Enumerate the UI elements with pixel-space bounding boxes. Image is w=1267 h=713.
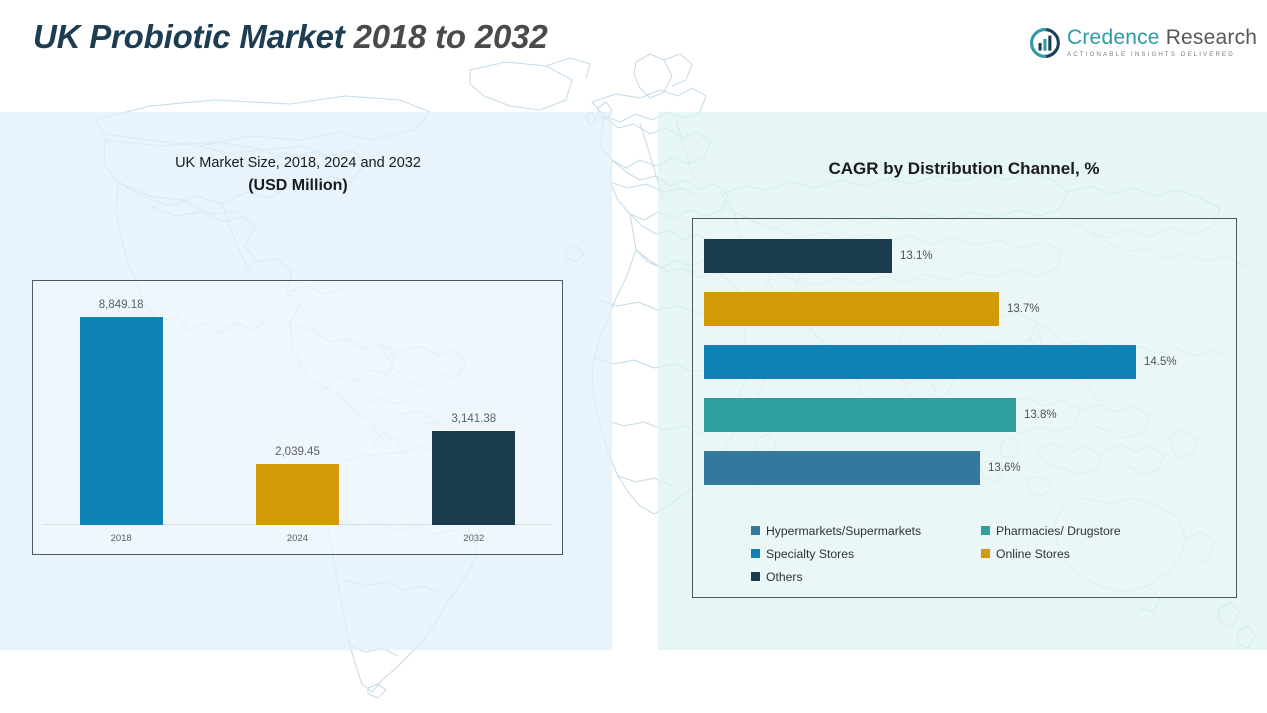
bar-value-label: 13.7% bbox=[1007, 303, 1040, 315]
column-bar bbox=[432, 431, 515, 525]
column-category-label: 2018 bbox=[33, 533, 209, 544]
column-group-2018: 2,039.45 bbox=[209, 299, 385, 525]
legend-label: Pharmacies/ Drugstore bbox=[996, 524, 1121, 538]
infographic-page: UK Probiotic Market 2018 to 2032 Credenc… bbox=[0, 0, 1267, 713]
left-chart-title-line2: (USD Million) bbox=[33, 174, 563, 197]
page-title-secondary: 2018 to 2032 bbox=[354, 18, 548, 55]
bar-fill bbox=[704, 398, 1016, 432]
logo-word-research: Research bbox=[1160, 26, 1258, 49]
bar-value-label: 13.8% bbox=[1024, 409, 1057, 421]
page-title-primary: UK Probiotic Market bbox=[33, 18, 354, 55]
legend-swatch-icon bbox=[751, 549, 760, 558]
bar-fill bbox=[704, 451, 980, 485]
column-category-label: 2024 bbox=[209, 533, 385, 544]
logo-word-credence: Credence bbox=[1067, 26, 1160, 49]
bar-row: 13.6% bbox=[704, 451, 1021, 485]
bar-value-label: 13.6% bbox=[988, 462, 1021, 474]
legend-item-specialty-stores[interactable]: Specialty Stores bbox=[751, 542, 981, 565]
column-value-label: 3,141.38 bbox=[451, 413, 496, 425]
column-bar bbox=[80, 317, 163, 525]
right-chart-title: CAGR by Distribution Channel, % bbox=[692, 158, 1236, 180]
column-group-2032: 8,849.18 bbox=[33, 299, 209, 525]
logo-text: Credence Research Actionable Insights De… bbox=[1067, 27, 1257, 58]
legend-item-pharmacies-drugstore[interactable]: Pharmacies/ Drugstore bbox=[981, 519, 1211, 542]
left-chart-title: UK Market Size, 2018, 2024 and 2032 (USD… bbox=[33, 152, 563, 197]
credence-research-logo: Credence Research Actionable Insights De… bbox=[1030, 27, 1257, 58]
column-chart-plot-area: 2,039.45 3,141.38 8,849.18 2018 2024 203… bbox=[33, 281, 562, 554]
logo-tagline: Actionable Insights Delivered bbox=[1067, 51, 1257, 58]
column-bar bbox=[256, 464, 339, 525]
market-size-column-chart: 2,039.45 3,141.38 8,849.18 2018 2024 203… bbox=[32, 280, 563, 555]
page-title: UK Probiotic Market 2018 to 2032 bbox=[33, 18, 547, 56]
bar-row: 14.5% bbox=[704, 345, 1177, 379]
legend-item-hypermarkets-supermarkets[interactable]: Hypermarkets/Supermarkets bbox=[751, 519, 981, 542]
bar-fill bbox=[704, 239, 892, 273]
legend-swatch-icon bbox=[751, 526, 760, 535]
bar-chart-circle-icon bbox=[1030, 28, 1060, 58]
legend-label: Specialty Stores bbox=[766, 547, 854, 561]
legend-label: Hypermarkets/Supermarkets bbox=[766, 524, 921, 538]
legend-item-online-stores[interactable]: Online Stores bbox=[981, 542, 1211, 565]
column-value-label: 2,039.45 bbox=[275, 446, 320, 458]
bar-value-label: 14.5% bbox=[1144, 356, 1177, 368]
bar-chart-legend: Hypermarkets/Supermarkets Pharmacies/ Dr… bbox=[751, 519, 1211, 588]
cagr-bar-chart: 13.1% 13.7% 14.5% 13.8% 13.6% Hype bbox=[692, 218, 1237, 598]
logo-wordmark: Credence Research bbox=[1067, 27, 1257, 49]
bar-value-label: 13.1% bbox=[900, 250, 933, 262]
column-category-label: 2032 bbox=[386, 533, 562, 544]
legend-swatch-icon bbox=[981, 549, 990, 558]
legend-swatch-icon bbox=[751, 572, 760, 581]
bar-row: 13.8% bbox=[704, 398, 1057, 432]
right-chart-title-line1: CAGR by Distribution Channel, % bbox=[692, 158, 1236, 180]
legend-label: Others bbox=[766, 570, 803, 584]
column-value-label: 8,849.18 bbox=[99, 299, 144, 311]
column-group-2024: 3,141.38 bbox=[386, 299, 562, 525]
legend-swatch-icon bbox=[981, 526, 990, 535]
header: UK Probiotic Market 2018 to 2032 Credenc… bbox=[0, 0, 1267, 112]
left-chart-title-line1: UK Market Size, 2018, 2024 and 2032 bbox=[33, 152, 563, 174]
bar-row: 13.1% bbox=[704, 239, 933, 273]
legend-item-others[interactable]: Others bbox=[751, 565, 981, 588]
bar-fill bbox=[704, 292, 999, 326]
bar-chart-plot-area: 13.1% 13.7% 14.5% 13.8% 13.6% bbox=[704, 239, 1214, 504]
bar-fill bbox=[704, 345, 1136, 379]
bar-row: 13.7% bbox=[704, 292, 1040, 326]
legend-label: Online Stores bbox=[996, 547, 1070, 561]
